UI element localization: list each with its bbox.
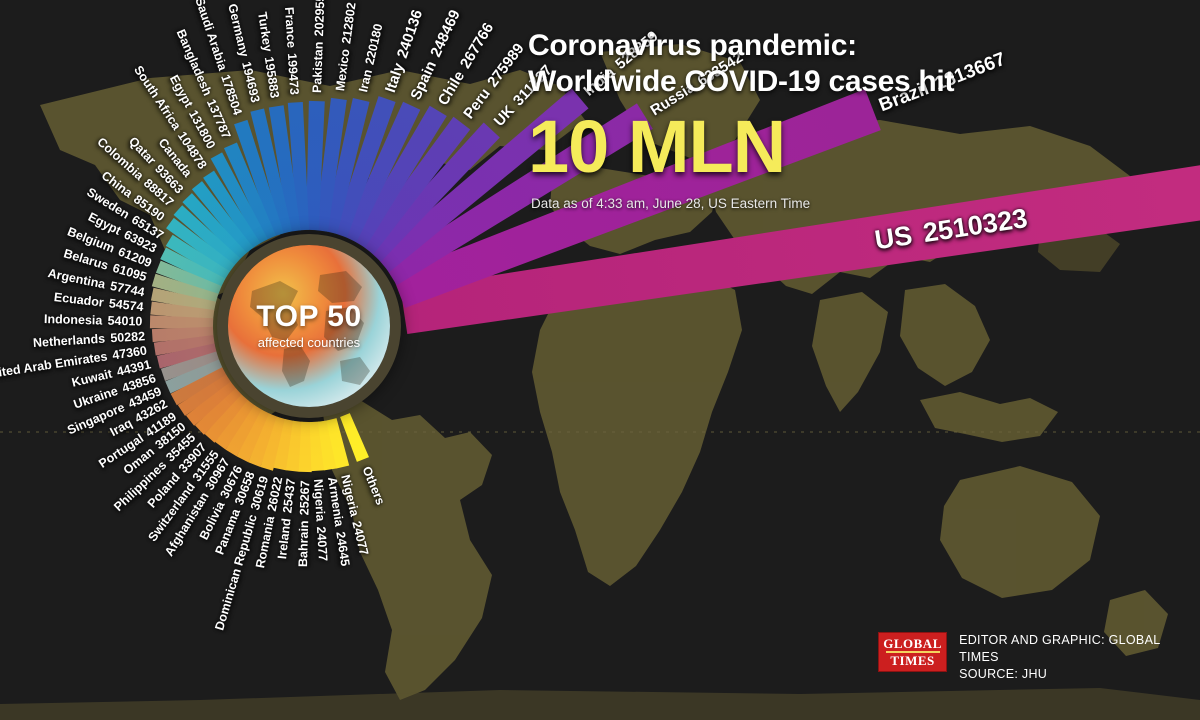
credit-line-2: SOURCE: JHU	[959, 666, 1200, 683]
title-line-1: Coronavirus pandemic:	[528, 28, 1168, 64]
title-line-2: Worldwide COVID-19 cases hit	[528, 64, 1168, 100]
center-hub-text: TOP 50 affected countries	[228, 245, 390, 407]
data-timestamp: Data as of 4:33 am, June 28, US Eastern …	[531, 196, 1168, 211]
infographic-canvas: TOP 50 affected countries US2510323Brazi…	[0, 0, 1200, 720]
headline-block: Coronavirus pandemic: Worldwide COVID-19…	[528, 28, 1168, 211]
hub-subtitle: affected countries	[258, 335, 360, 351]
footer-credits: GLOBAL TIMES EDITOR AND GRAPHIC: GLOBAL …	[878, 632, 1200, 683]
hub-title: TOP 50	[256, 302, 361, 332]
global-times-logo: GLOBAL TIMES	[878, 632, 947, 672]
credit-line-1: EDITOR AND GRAPHIC: GLOBAL TIMES	[959, 632, 1200, 666]
logo-line-1: GLOBAL	[883, 637, 942, 650]
credit-text: EDITOR AND GRAPHIC: GLOBAL TIMES SOURCE:…	[959, 632, 1200, 683]
logo-line-2: TIMES	[890, 654, 934, 667]
headline-number: 10 MLN	[528, 108, 1168, 186]
